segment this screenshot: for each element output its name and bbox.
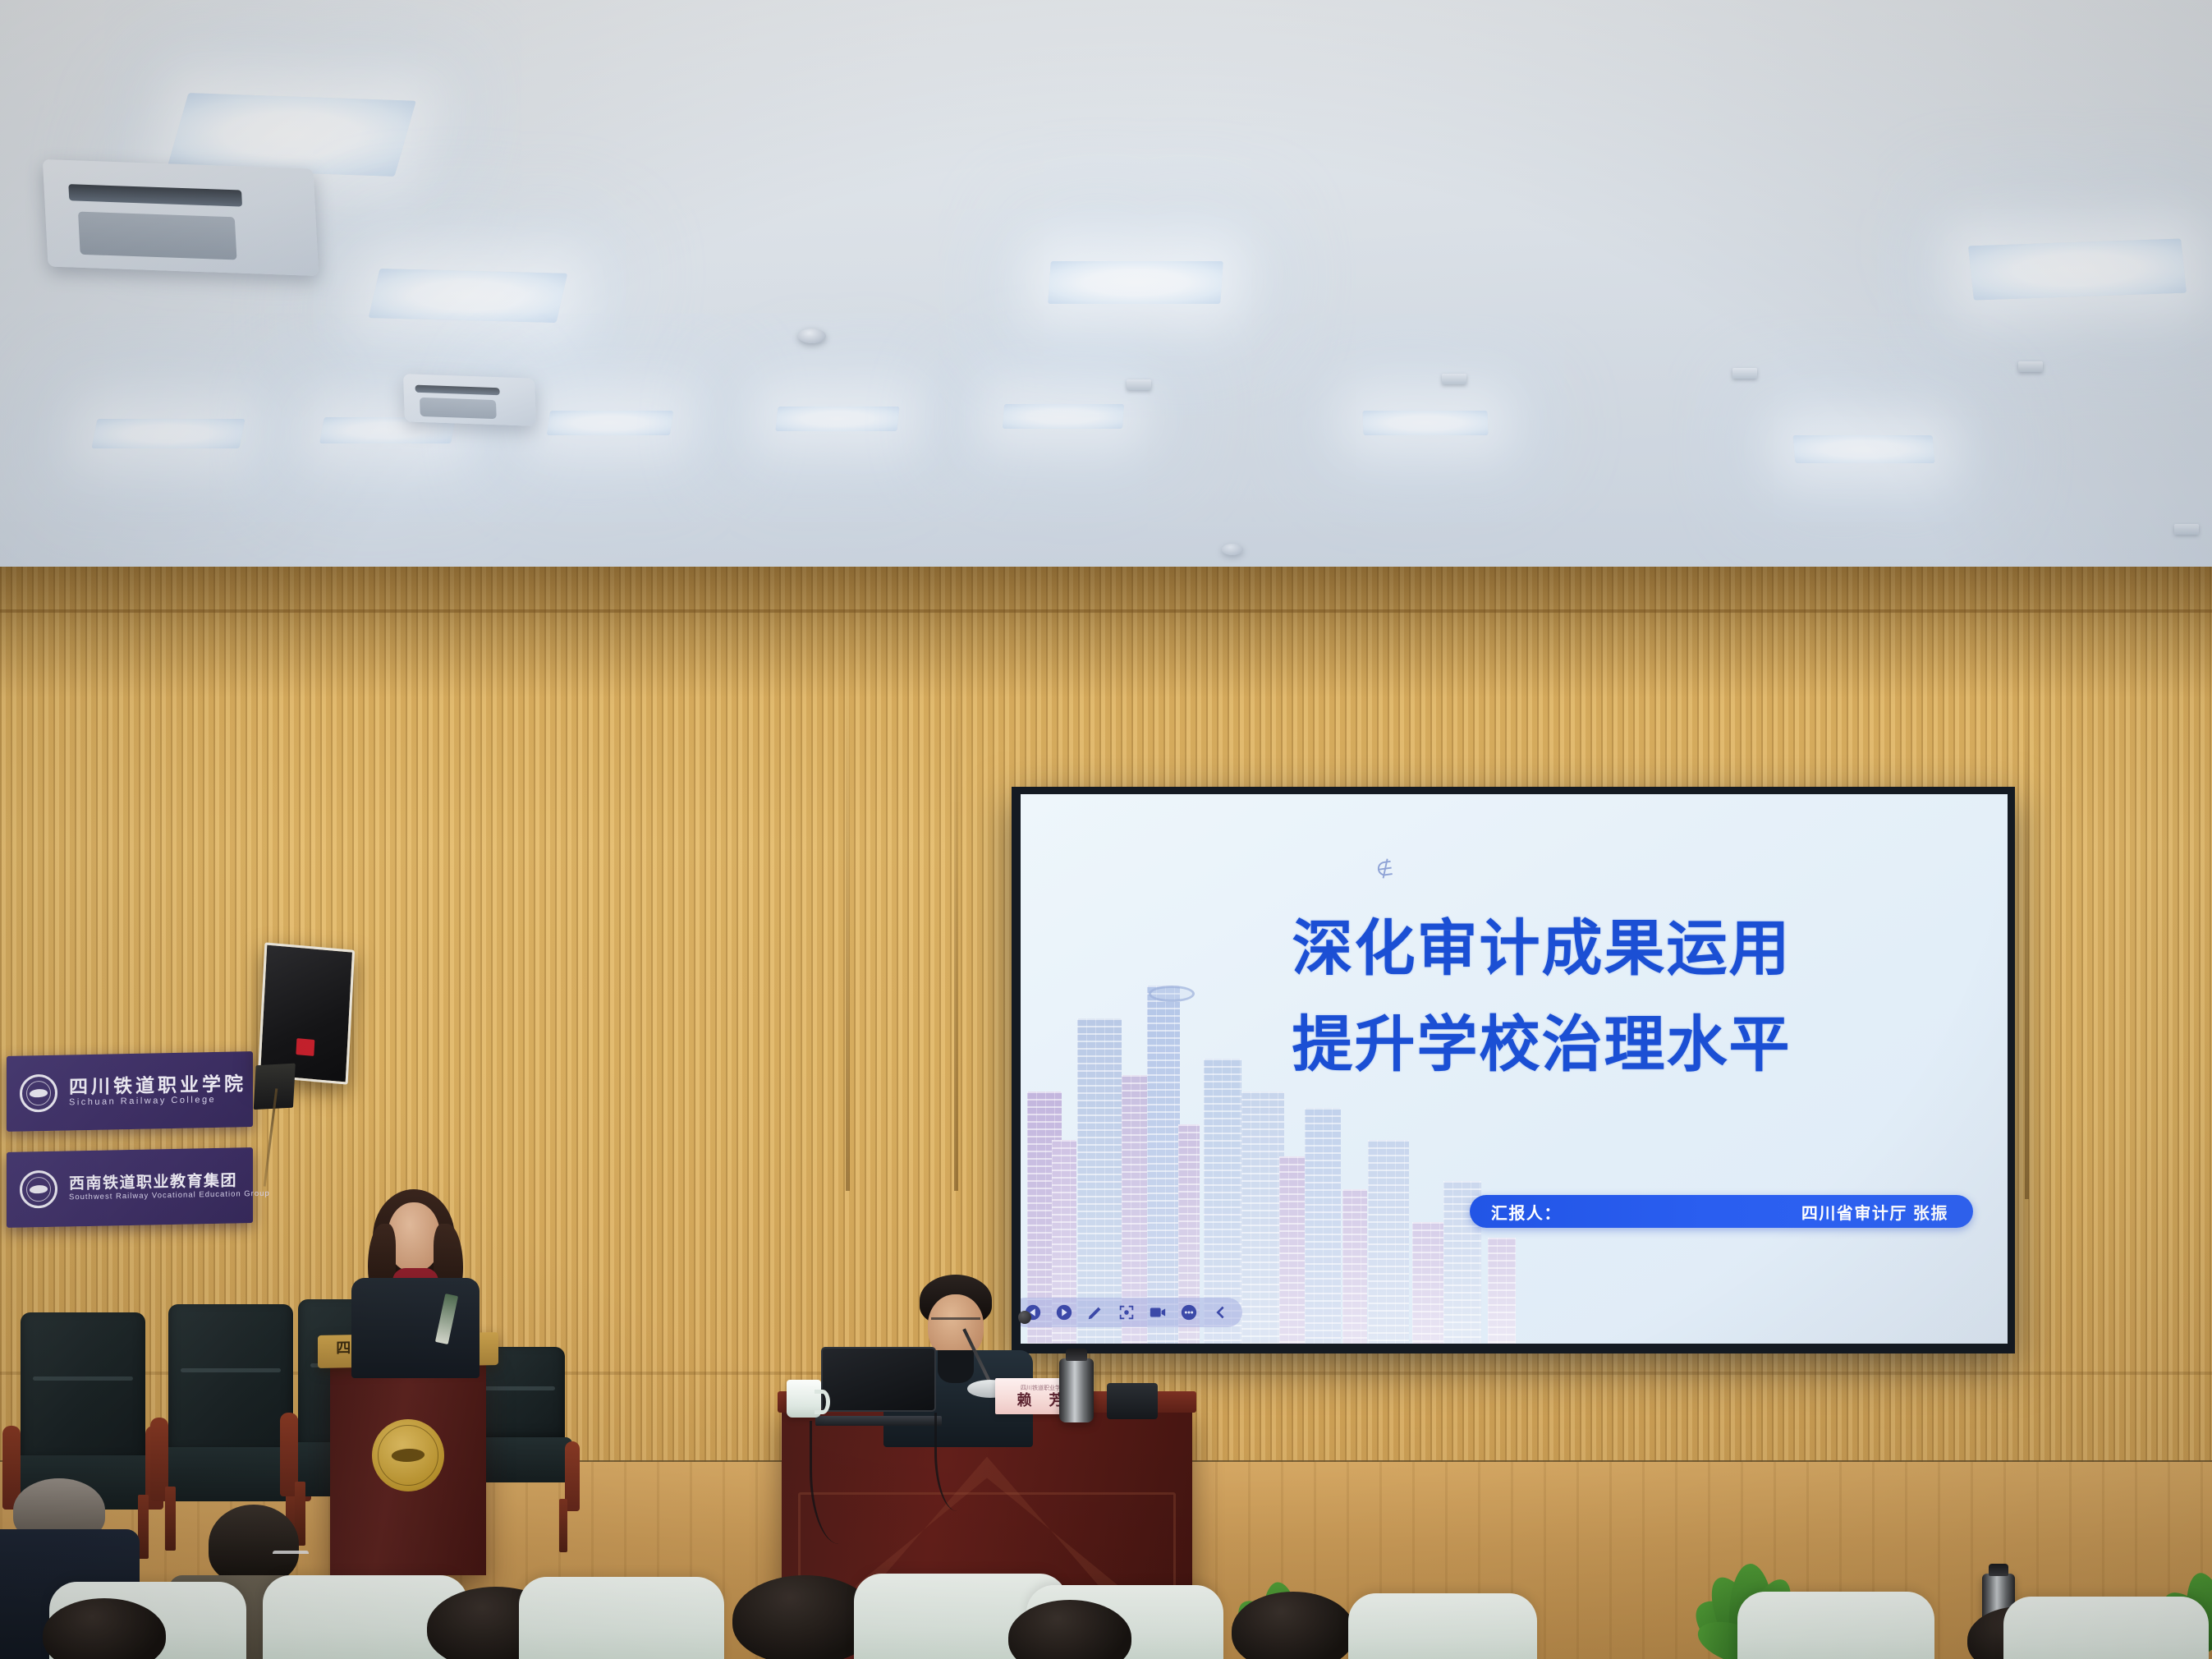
skyline-building: [1488, 1238, 1516, 1344]
wall-top-shadow: [0, 567, 2212, 698]
play-slide-icon[interactable]: [1055, 1303, 1073, 1321]
podium: 四川铁道职业学院 Sichuan Railway College: [330, 1362, 486, 1575]
audience-chair: [519, 1577, 724, 1659]
speaker-dark-jacket: [351, 1278, 480, 1378]
video-record-icon[interactable]: [1149, 1303, 1167, 1321]
thermos-flask: [1059, 1358, 1094, 1422]
microphone-head-icon: [1018, 1311, 1031, 1324]
wall-sign-college-name-en: Sichuan Railway College: [69, 1095, 246, 1107]
audience-chair: [2003, 1597, 2209, 1659]
education-group-emblem-icon: [20, 1170, 57, 1209]
skyline-building: [1305, 1108, 1341, 1344]
college-emblem-icon: [20, 1074, 57, 1113]
slide-title-line-1: 深化审计成果运用: [1292, 915, 1792, 983]
table-bag: [1107, 1383, 1158, 1419]
wall-sign-education-group: 西南铁道职业教育集团 Southwest Railway Vocational …: [7, 1147, 253, 1228]
official-glasses-icon: [931, 1317, 980, 1327]
city-skyline-illustration: [1021, 937, 1652, 1344]
tea-cup: [787, 1380, 821, 1418]
skyline-building: [1412, 1222, 1443, 1344]
presentation-toolbar[interactable]: [1021, 1298, 1242, 1327]
skyline-building: [1147, 986, 1180, 1344]
presenter-role-label: 汇报人：: [1470, 1200, 1562, 1224]
podium-emblem-icon: [372, 1419, 444, 1491]
wall-sign-college: 四川铁道职业学院 Sichuan Railway College: [7, 1051, 253, 1132]
speaker-brand-logo-icon: [296, 1038, 314, 1056]
wall-seam: [0, 609, 2212, 613]
speaker-at-podium: [345, 1189, 484, 1378]
official-collar: [938, 1350, 974, 1383]
projection-screen-frame: ∉ 深化审计成果运用 提升学: [1012, 787, 2015, 1353]
presenter-name-label: 四川省审计厅 张振: [1801, 1200, 1973, 1224]
wall-door-seam: [846, 665, 850, 1191]
wall-mounted-loudspeaker: [258, 942, 355, 1084]
slide-title-line-2: 提升学校治理水平: [1292, 1011, 1792, 1079]
audience-chair: [1737, 1592, 1934, 1659]
wall-sign-college-name-cn: 四川铁道职业学院: [69, 1074, 246, 1096]
presenter-badge: 汇报人： 四川省审计厅 张振: [1470, 1195, 1973, 1228]
skyline-building: [1368, 1140, 1409, 1344]
presentation-slide[interactable]: ∉ 深化审计成果运用 提升学: [1021, 794, 2008, 1344]
collapse-toolbar-icon[interactable]: [1211, 1303, 1229, 1321]
laptop[interactable]: [821, 1347, 936, 1426]
wall-door-seam: [954, 665, 958, 1191]
wall-door-seam: [2025, 657, 2029, 1199]
skyline-tower-ring: [1149, 986, 1195, 1002]
pen-annotate-icon[interactable]: [1086, 1303, 1104, 1321]
skyline-building: [1342, 1189, 1367, 1344]
skyline-building: [1241, 1091, 1284, 1344]
skyline-building: [1279, 1156, 1307, 1344]
audience-chair: [1348, 1593, 1537, 1659]
skyline-building: [1077, 1018, 1122, 1344]
audience-glasses-icon: [273, 1551, 309, 1560]
conference-hall-photo: 四川铁道职业学院 Sichuan Railway College 西南铁道职业教…: [0, 0, 2212, 1659]
audience-hair: [209, 1505, 299, 1583]
laser-focus-icon[interactable]: [1117, 1303, 1136, 1321]
more-options-icon[interactable]: [1180, 1303, 1198, 1321]
slide-cursor-artifact: ∉: [1374, 859, 1394, 881]
